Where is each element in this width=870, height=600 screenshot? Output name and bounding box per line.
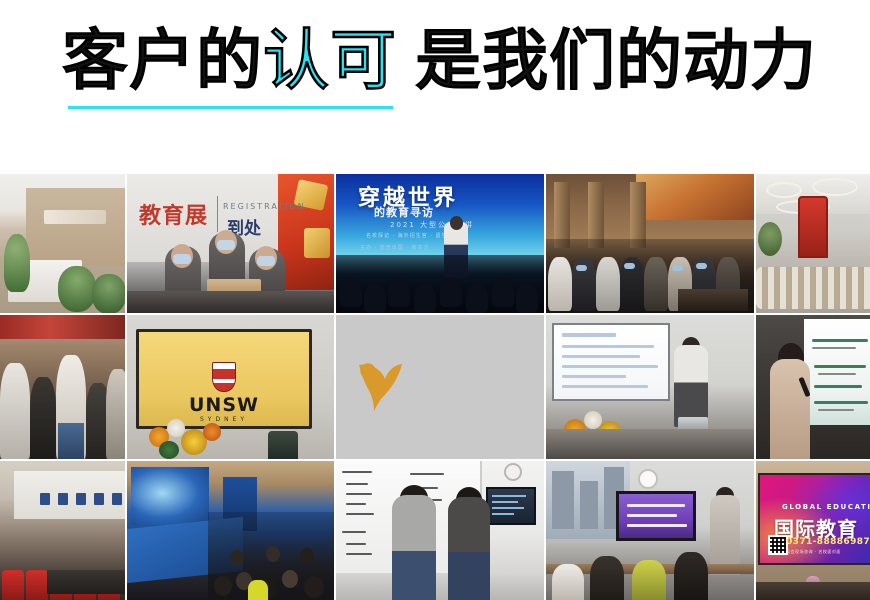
meeting-chair bbox=[268, 431, 298, 459]
visitor-1 bbox=[0, 363, 30, 459]
student-2 bbox=[590, 556, 624, 600]
wall-monitor bbox=[486, 487, 536, 525]
face-mask-2 bbox=[217, 240, 235, 250]
classroom-display bbox=[616, 491, 696, 541]
gallery-photo-office-reception[interactable] bbox=[0, 174, 125, 313]
gallery-photo-unsw-presentation[interactable]: UNSW SYDNEY bbox=[127, 315, 334, 459]
student-4 bbox=[674, 552, 708, 600]
sponsor-logo-4 bbox=[94, 493, 104, 505]
led-small-text: 展会现场咨询 · 名校面对面 bbox=[786, 549, 841, 555]
sponsor-logo-3 bbox=[76, 493, 86, 505]
student-body-1 bbox=[392, 495, 436, 600]
title-part-2: 是我们的动力 bbox=[415, 22, 817, 100]
student-1 bbox=[552, 564, 584, 600]
booth-table bbox=[127, 291, 334, 313]
sponsor-logo-1 bbox=[40, 493, 50, 505]
face-mask-3 bbox=[257, 256, 275, 266]
gallery-photo-auditorium[interactable] bbox=[127, 461, 334, 600]
title-accent: 认可 bbox=[263, 22, 397, 100]
sponsor-logo-5 bbox=[112, 493, 122, 505]
gallery-photo-exhibition-aisle[interactable] bbox=[0, 315, 125, 459]
page-root: 客户的认可是我们的动力 教育展 REGISTRATION 到处 bbox=[0, 0, 870, 600]
gallery-photo-education-fair[interactable]: 教育展 REGISTRATION 到处 bbox=[127, 174, 334, 313]
auditorium-screen bbox=[131, 467, 209, 525]
led-screen: GLOBAL EDUCATION 国际教育 0371-88886987 展会现场… bbox=[758, 473, 870, 565]
stage-line-4: 主办 · 前途出国 · 新东方 bbox=[360, 244, 430, 251]
student-3 bbox=[632, 560, 666, 600]
auditorium-audience bbox=[208, 512, 334, 600]
lobby-ceiling-light bbox=[636, 174, 754, 220]
reception-sign bbox=[44, 210, 106, 224]
page-title: 客户的认可是我们的动力 bbox=[62, 22, 817, 100]
flower-arrangement bbox=[147, 413, 229, 459]
logo-figure-icon bbox=[355, 359, 405, 411]
gallery-photo-interactive-whiteboard[interactable] bbox=[546, 315, 754, 459]
gallery-photo-global-education-led[interactable]: GLOBAL EDUCATION 国际教育 0371-88886987 展会现场… bbox=[756, 461, 870, 600]
gallery-logo-vision-overseas[interactable] bbox=[336, 315, 544, 459]
visitor-jeans bbox=[58, 423, 84, 459]
unsw-crest-icon bbox=[212, 362, 236, 392]
qr-code-icon bbox=[768, 535, 788, 555]
classroom-clock-icon bbox=[638, 469, 658, 489]
led-phone-number: 0371-88886987 bbox=[786, 537, 870, 547]
ceiling-ring-1 bbox=[766, 182, 802, 198]
led-stage-floor bbox=[756, 582, 870, 600]
exhibition-banner bbox=[0, 315, 125, 339]
title-part-1: 客户的 bbox=[62, 22, 263, 100]
stage-audience-silhouettes bbox=[336, 255, 544, 313]
student-body-2 bbox=[448, 497, 490, 600]
vision-overseas-logo bbox=[351, 357, 529, 417]
visitor-5 bbox=[106, 369, 125, 459]
presenter-body bbox=[674, 345, 708, 427]
conference-desk bbox=[546, 429, 754, 459]
stage-speaker-head bbox=[450, 216, 463, 230]
plant-2 bbox=[58, 266, 96, 312]
led-english-title: GLOBAL EDUCATION bbox=[782, 503, 870, 511]
booth-banner-cn: 教育展 bbox=[139, 198, 208, 230]
teacher-body bbox=[710, 495, 740, 575]
gallery-photo-whiteboard-session[interactable] bbox=[336, 461, 544, 600]
red-chair-1 bbox=[2, 570, 24, 600]
lounge-plant bbox=[758, 222, 782, 256]
gallery-photo-seminar-room[interactable] bbox=[0, 461, 125, 600]
ceiling-ring-2 bbox=[812, 178, 858, 196]
red-phone-box bbox=[798, 196, 828, 258]
visitor-2 bbox=[30, 377, 56, 459]
lecturer-body bbox=[770, 359, 810, 459]
headline-block: 客户的认可是我们的动力 bbox=[0, 0, 870, 160]
gallery-photo-lecturer[interactable] bbox=[756, 315, 870, 459]
booth-gold-decor-2 bbox=[304, 228, 330, 258]
sponsor-logo-2 bbox=[58, 493, 68, 505]
reception-wall bbox=[26, 188, 125, 266]
gallery-photo-stage-keynote[interactable]: 穿越世界 的教育寻访 2021 大型公益巡讲 名校探访 · 海外招生官 · 留学… bbox=[336, 174, 544, 313]
plant-3 bbox=[92, 274, 125, 313]
interactive-board bbox=[552, 323, 670, 401]
gallery-photo-classroom[interactable] bbox=[546, 461, 754, 600]
face-mask-1 bbox=[173, 254, 191, 264]
seminar-backdrop bbox=[14, 471, 125, 519]
gallery-photo-lobby-crowd[interactable] bbox=[546, 174, 754, 313]
gallery-photo-lounge[interactable] bbox=[756, 174, 870, 313]
lounge-striped-sofa bbox=[756, 267, 870, 309]
title-underline bbox=[68, 106, 393, 109]
booth-banner-en: REGISTRATION bbox=[223, 202, 306, 211]
stage-subtitle: 的教育寻访 bbox=[374, 204, 434, 220]
plant-1 bbox=[4, 234, 30, 292]
wall-clock-icon bbox=[504, 463, 522, 481]
red-chair-2 bbox=[26, 570, 48, 600]
booth-divider bbox=[217, 196, 218, 232]
seminar-table bbox=[47, 570, 125, 594]
photo-gallery-grid: 教育展 REGISTRATION 到处 穿越世界 的教育寻访 2021 大型公益… bbox=[0, 174, 870, 600]
lobby-counter bbox=[678, 289, 748, 311]
lecture-slide bbox=[804, 319, 870, 425]
